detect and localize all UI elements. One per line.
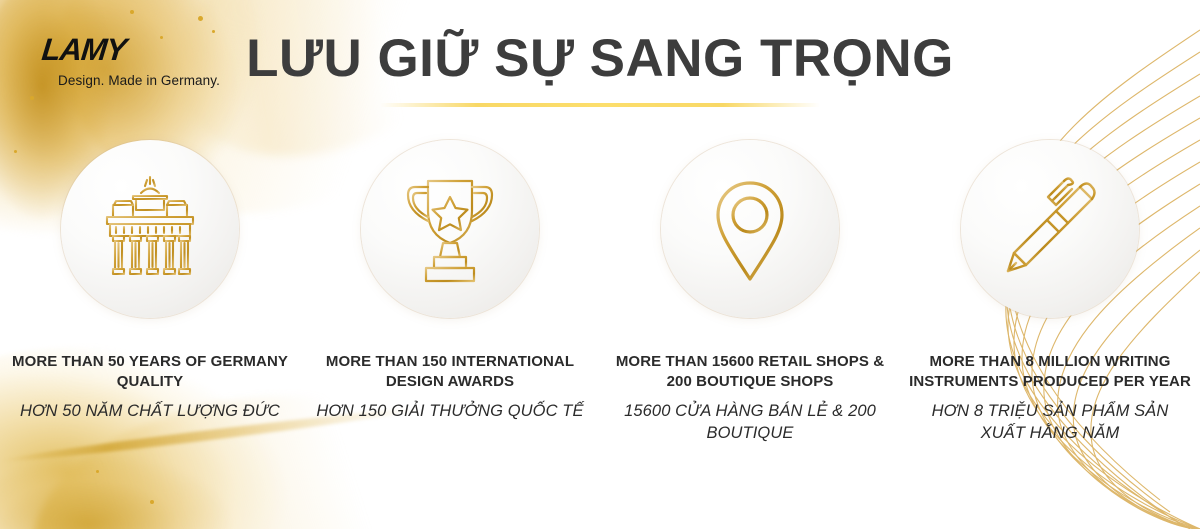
- caption-english: MORE THAN 15600 RETAIL SHOPS & 200 BOUTI…: [608, 352, 892, 393]
- brandenburg-gate-icon: [91, 173, 209, 285]
- gold-speck: [198, 16, 203, 21]
- page-title: LƯU GIỮ SỰ SANG TRỌNG: [0, 30, 1200, 88]
- feature-item: [600, 140, 900, 318]
- trophy-icon: [396, 173, 504, 285]
- feature-caption: MORE THAN 15600 RETAIL SHOPS & 200 BOUTI…: [600, 352, 900, 445]
- feature-captions-row: MORE THAN 50 YEARS OF GERMANY QUALITY HƠ…: [0, 352, 1200, 445]
- caption-english: MORE THAN 8 MILLION WRITING INSTRUMENTS …: [908, 352, 1192, 393]
- caption-english: MORE THAN 50 YEARS OF GERMANY QUALITY: [8, 352, 292, 393]
- caption-vietnamese: HƠN 150 GIẢI THƯỞNG QUỐC TẾ: [308, 400, 592, 423]
- feature-item: [0, 140, 300, 318]
- caption-vietnamese: HƠN 50 NĂM CHẤT LƯỢNG ĐỨC: [8, 400, 292, 423]
- feature-caption: MORE THAN 8 MILLION WRITING INSTRUMENTS …: [900, 352, 1200, 445]
- icon-circle: [661, 140, 839, 318]
- icon-circle: [961, 140, 1139, 318]
- promo-banner: LAMY Design. Made in Germany. LƯU GIỮ SỰ…: [0, 0, 1200, 529]
- icon-circle: [361, 140, 539, 318]
- feature-icons-row: [0, 140, 1200, 318]
- title-underline-divider: [380, 103, 820, 107]
- gold-speck: [150, 500, 154, 504]
- gold-speck: [30, 96, 34, 100]
- caption-vietnamese: 15600 CỬA HÀNG BÁN LẺ & 200 BOUTIQUE: [608, 400, 892, 446]
- feature-item: [900, 140, 1200, 318]
- feature-item: [300, 140, 600, 318]
- caption-vietnamese: HƠN 8 TRIỆU SẢN PHẨM SẢN XUẤT HẰNG NĂM: [908, 400, 1192, 446]
- gold-speck: [96, 470, 99, 473]
- map-pin-icon: [705, 173, 795, 285]
- feature-caption: MORE THAN 150 INTERNATIONAL DESIGN AWARD…: [300, 352, 600, 445]
- caption-english: MORE THAN 150 INTERNATIONAL DESIGN AWARD…: [308, 352, 592, 393]
- gold-speck: [130, 10, 134, 14]
- feature-caption: MORE THAN 50 YEARS OF GERMANY QUALITY HƠ…: [0, 352, 300, 445]
- pen-icon: [994, 173, 1106, 285]
- watercolor-wash-bottom-left-3: [0, 460, 270, 529]
- icon-circle: [61, 140, 239, 318]
